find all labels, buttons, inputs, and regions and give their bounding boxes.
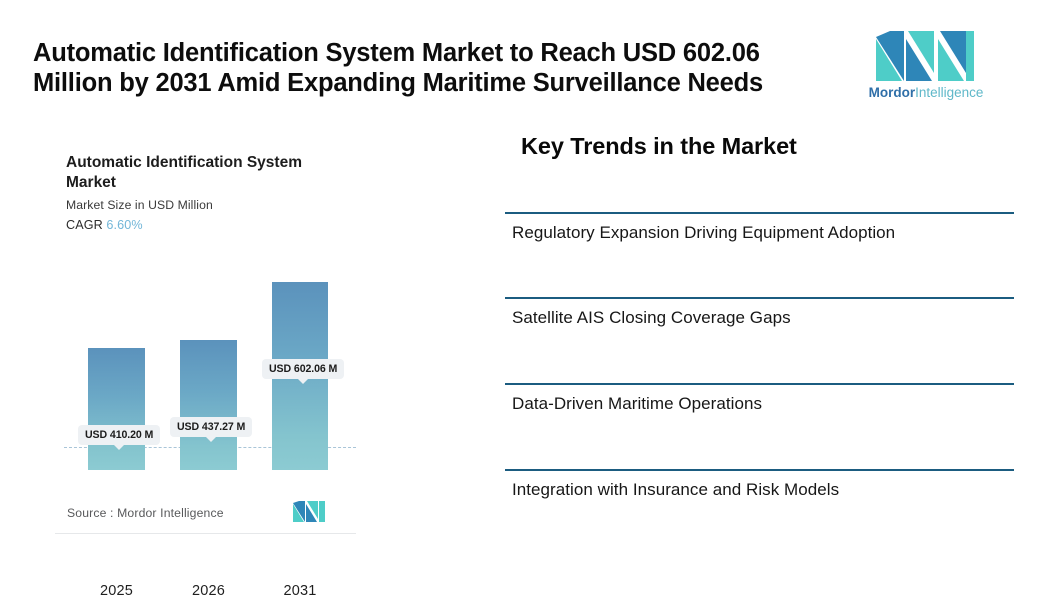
trend-label-3: Data-Driven Maritime Operations	[512, 394, 762, 414]
trend-divider-2	[505, 297, 1014, 299]
brand-logo: MordorIntelligence	[862, 31, 990, 103]
trend-label-2: Satellite AIS Closing Coverage Gaps	[512, 308, 791, 328]
x-axis-tick-2026: 2026	[180, 583, 237, 599]
trend-divider-3	[505, 383, 1014, 385]
chart-title: Automatic Identification System Market	[66, 153, 316, 193]
x-axis-tick-2031: 2031	[272, 583, 328, 599]
page-title: Automatic Identification System Market t…	[33, 38, 813, 98]
bar-2026	[180, 340, 237, 470]
bar-label-2026: USD 437.27 M	[170, 417, 252, 437]
page-title-line-1: Automatic Identification System Market t…	[33, 38, 813, 68]
brand-wordmark: MordorIntelligence	[862, 85, 990, 100]
bar-chart-plot-area: USD 410.20 M USD 437.27 M USD 602.06 M 2…	[55, 238, 356, 470]
key-trends-panel: Key Trends in the Market Regulatory Expa…	[505, 133, 1015, 513]
mordor-m-small-icon	[293, 501, 325, 522]
chart-cagr: CAGR 6.60%	[66, 218, 143, 232]
chart-subtitle: Market Size in USD Million	[66, 198, 213, 212]
page-title-line-2: Million by 2031 Amid Expanding Maritime …	[33, 68, 813, 98]
bar-label-2031: USD 602.06 M	[262, 359, 344, 379]
x-axis-tick-2025: 2025	[88, 583, 145, 599]
cagr-label: CAGR	[66, 218, 103, 232]
brand-name-bold: Mordor	[869, 85, 916, 100]
cagr-value: 6.60%	[106, 218, 142, 232]
chart-source-label: Source : Mordor Intelligence	[67, 506, 224, 520]
trend-divider-1	[505, 212, 1014, 214]
mordor-m-logo-icon	[876, 31, 974, 81]
bar-2025	[88, 348, 145, 470]
trend-label-4: Integration with Insurance and Risk Mode…	[512, 480, 839, 500]
trend-divider-4	[505, 469, 1014, 471]
bar-label-2025: USD 410.20 M	[78, 425, 160, 445]
page-header: Automatic Identification System Market t…	[0, 0, 1048, 120]
trend-label-1: Regulatory Expansion Driving Equipment A…	[512, 223, 895, 243]
key-trends-heading: Key Trends in the Market	[521, 133, 797, 160]
market-size-chart-card: Automatic Identification System Market M…	[55, 128, 356, 534]
brand-name-light: Intelligence	[915, 85, 983, 100]
